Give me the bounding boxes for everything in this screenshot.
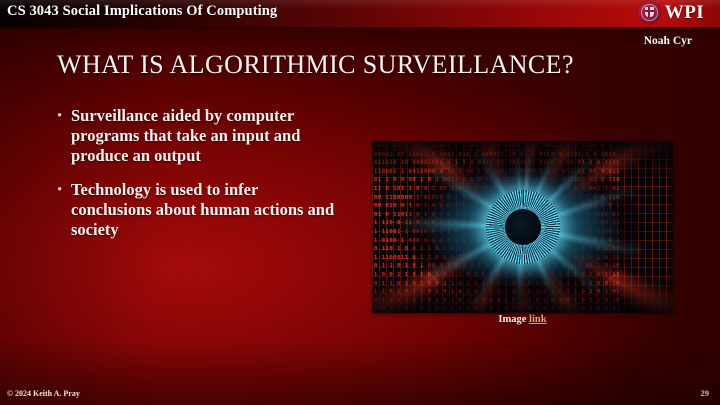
bullet-text: Surveillance aided by computer programs … — [71, 106, 339, 166]
presenter-name: Noah Cyr — [644, 35, 692, 47]
list-item: • Surveillance aided by computer program… — [57, 106, 357, 166]
slide-title: WHAT IS ALGORITHMIC SURVEILLANCE? — [57, 50, 574, 80]
wpi-seal-icon — [638, 1, 661, 24]
bullet-marker-icon: • — [57, 106, 71, 126]
slide-image-digital-eye: 1001 0110 10 1 01001 0 1101 0 100 0110 1… — [372, 141, 673, 313]
presentation-slide: CS 3043 Social Implications Of Computing… — [0, 0, 720, 405]
bullet-list: • Surveillance aided by computer program… — [57, 106, 357, 254]
wpi-wordmark: WPI — [665, 3, 704, 22]
list-item: • Technology is used to infer conclusion… — [57, 180, 357, 240]
image-caption: Image link — [372, 314, 673, 325]
bullet-text: Technology is used to infer conclusions … — [71, 180, 339, 240]
wpi-logo: WPI — [638, 1, 704, 24]
wpi-seal-shield-icon — [645, 7, 654, 17]
page-number: 29 — [701, 388, 710, 398]
copyright-notice: © 2024 Keith A. Pray — [7, 389, 80, 398]
eye-pupil — [505, 209, 541, 245]
course-title: CS 3043 Social Implications Of Computing — [7, 3, 277, 20]
bullet-marker-icon: • — [57, 180, 71, 200]
image-source-link[interactable]: link — [529, 314, 547, 325]
caption-prefix: Image — [498, 314, 529, 325]
